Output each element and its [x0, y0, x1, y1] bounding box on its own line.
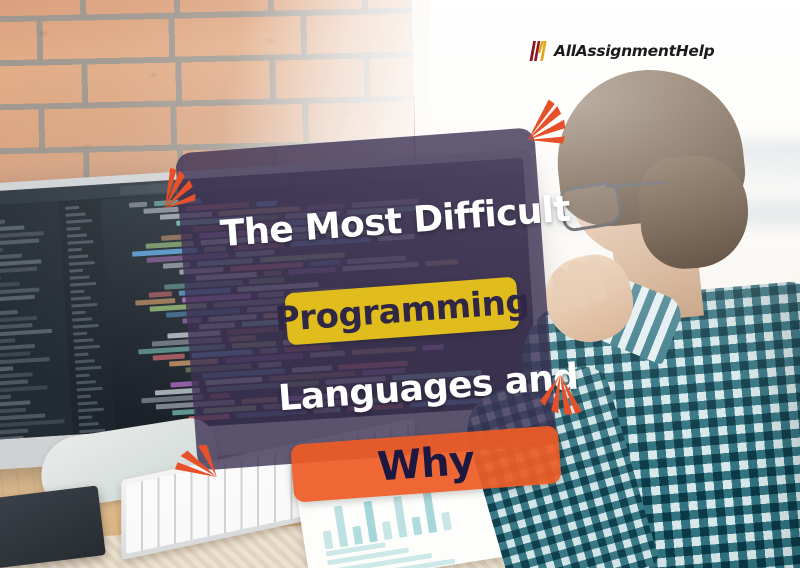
- editor-code-area: [103, 178, 532, 426]
- code-token: [170, 381, 198, 388]
- notebook: [0, 485, 106, 568]
- code-token: [306, 294, 349, 302]
- code-token: [435, 287, 464, 294]
- code-token: [264, 270, 282, 276]
- line-number: [74, 345, 100, 350]
- code-token: [252, 214, 278, 221]
- file-tree-row: [0, 329, 52, 338]
- code-token: [242, 397, 278, 404]
- line-number: [73, 324, 99, 329]
- desktop-monitor: [0, 149, 548, 472]
- chart-bar: [323, 530, 334, 549]
- chart-bar: [393, 496, 407, 538]
- file-tree-row: [0, 366, 13, 372]
- line-number: [67, 233, 87, 237]
- line-number: [76, 380, 96, 384]
- line-number: [69, 269, 83, 273]
- line-number: [78, 408, 104, 413]
- line-number: [66, 219, 92, 224]
- chart-bar: [382, 521, 393, 540]
- code-token: [347, 403, 403, 412]
- code-token: [255, 424, 287, 426]
- code-token: [163, 262, 190, 269]
- file-tree-row: [0, 372, 33, 379]
- brand-logo[interactable]: AllAssignmentHelp: [528, 40, 714, 62]
- code-token: [172, 409, 196, 415]
- file-tree-row: [0, 282, 20, 289]
- code-token: [153, 354, 185, 361]
- file-tree-row: [0, 267, 37, 276]
- code-token: [313, 407, 340, 414]
- line-number: [65, 206, 79, 210]
- code-token: [258, 291, 284, 298]
- code-token: [229, 335, 256, 342]
- line-number: [74, 353, 88, 357]
- line-number: [76, 374, 90, 378]
- file-tree-row: [0, 295, 35, 304]
- code-token: [129, 202, 147, 208]
- code-token: [437, 315, 462, 322]
- code-token: [284, 233, 318, 240]
- line-number: [70, 282, 96, 287]
- code-token: [314, 316, 336, 322]
- code-token: [285, 211, 340, 219]
- code-token: [307, 203, 345, 210]
- line-number: [66, 227, 80, 231]
- line-number: [69, 261, 95, 266]
- code-token: [425, 259, 458, 266]
- code-token: [233, 242, 284, 250]
- line-number: [77, 387, 103, 392]
- code-token: [356, 289, 428, 299]
- blog-banner: AllAssignmentHelp The Most Difficult Pro…: [0, 0, 800, 568]
- line-number: [75, 366, 101, 371]
- file-tree-row: [0, 220, 5, 227]
- file-tree-row: [0, 436, 24, 442]
- file-tree-row: [0, 344, 35, 351]
- code-token: [199, 322, 235, 329]
- code-token: [352, 346, 416, 355]
- code-token: [310, 260, 340, 267]
- chart-bar: [334, 505, 348, 547]
- code-token: [256, 200, 277, 206]
- line-number: [68, 248, 82, 252]
- line-number: [71, 303, 97, 308]
- line-number: [71, 296, 91, 300]
- line-number: [77, 401, 97, 405]
- code-token: [310, 351, 345, 358]
- file-tree-row: [0, 238, 39, 247]
- chart-bar: [364, 501, 378, 543]
- code-token: [204, 246, 226, 252]
- line-number: [75, 359, 95, 363]
- code-token: [325, 376, 385, 385]
- line-number: [73, 338, 93, 342]
- file-tree-row: [0, 338, 16, 344]
- code-token: [378, 234, 415, 241]
- line-number: [70, 275, 90, 279]
- chart-bar: [412, 516, 423, 535]
- code-token: [283, 336, 356, 346]
- code-token: [196, 272, 257, 281]
- code-token: [161, 234, 192, 241]
- code-token: [392, 370, 481, 381]
- burst-top-right-icon: [520, 93, 582, 150]
- file-tree-row: [0, 248, 3, 254]
- file-tree-row: [0, 395, 11, 401]
- code-token: [294, 420, 355, 426]
- code-token: [210, 393, 229, 399]
- code-editor-screen: [0, 158, 539, 442]
- file-tree-row: [0, 310, 18, 317]
- line-number: [72, 317, 92, 321]
- file-tree-row: [0, 357, 50, 366]
- code-token: [423, 344, 444, 350]
- file-tree-row: [0, 400, 30, 407]
- line-number: [72, 311, 86, 315]
- line-number: [73, 332, 87, 336]
- brand-name: AllAssignmentHelp: [554, 42, 714, 60]
- line-number: [79, 422, 99, 426]
- code-token: [149, 291, 172, 297]
- code-token: [259, 348, 277, 354]
- file-tree-row: [0, 419, 65, 428]
- code-token: [227, 325, 309, 335]
- code-token: [316, 322, 355, 329]
- chart-bar: [441, 512, 452, 531]
- code-token: [182, 317, 201, 323]
- code-token: [258, 362, 281, 368]
- file-tree-row: [0, 276, 1, 282]
- line-number: [77, 395, 91, 399]
- code-token: [247, 306, 278, 313]
- chart-bar: [352, 526, 363, 545]
- background-photo: [0, 0, 800, 568]
- chart-bar: [423, 491, 437, 533]
- code-token: [249, 277, 284, 284]
- line-number: [70, 290, 84, 294]
- file-tree-row: [0, 429, 28, 435]
- line-number: [68, 254, 88, 258]
- file-tree-row: [0, 385, 48, 394]
- line-number: [67, 240, 93, 245]
- line-number: [66, 213, 86, 217]
- allassignmenthelp-m-mark-icon: [528, 40, 549, 62]
- line-number: [78, 415, 92, 419]
- file-tree-row: [0, 254, 22, 261]
- finger: [552, 268, 570, 313]
- code-token: [288, 380, 319, 387]
- code-token: [289, 267, 336, 275]
